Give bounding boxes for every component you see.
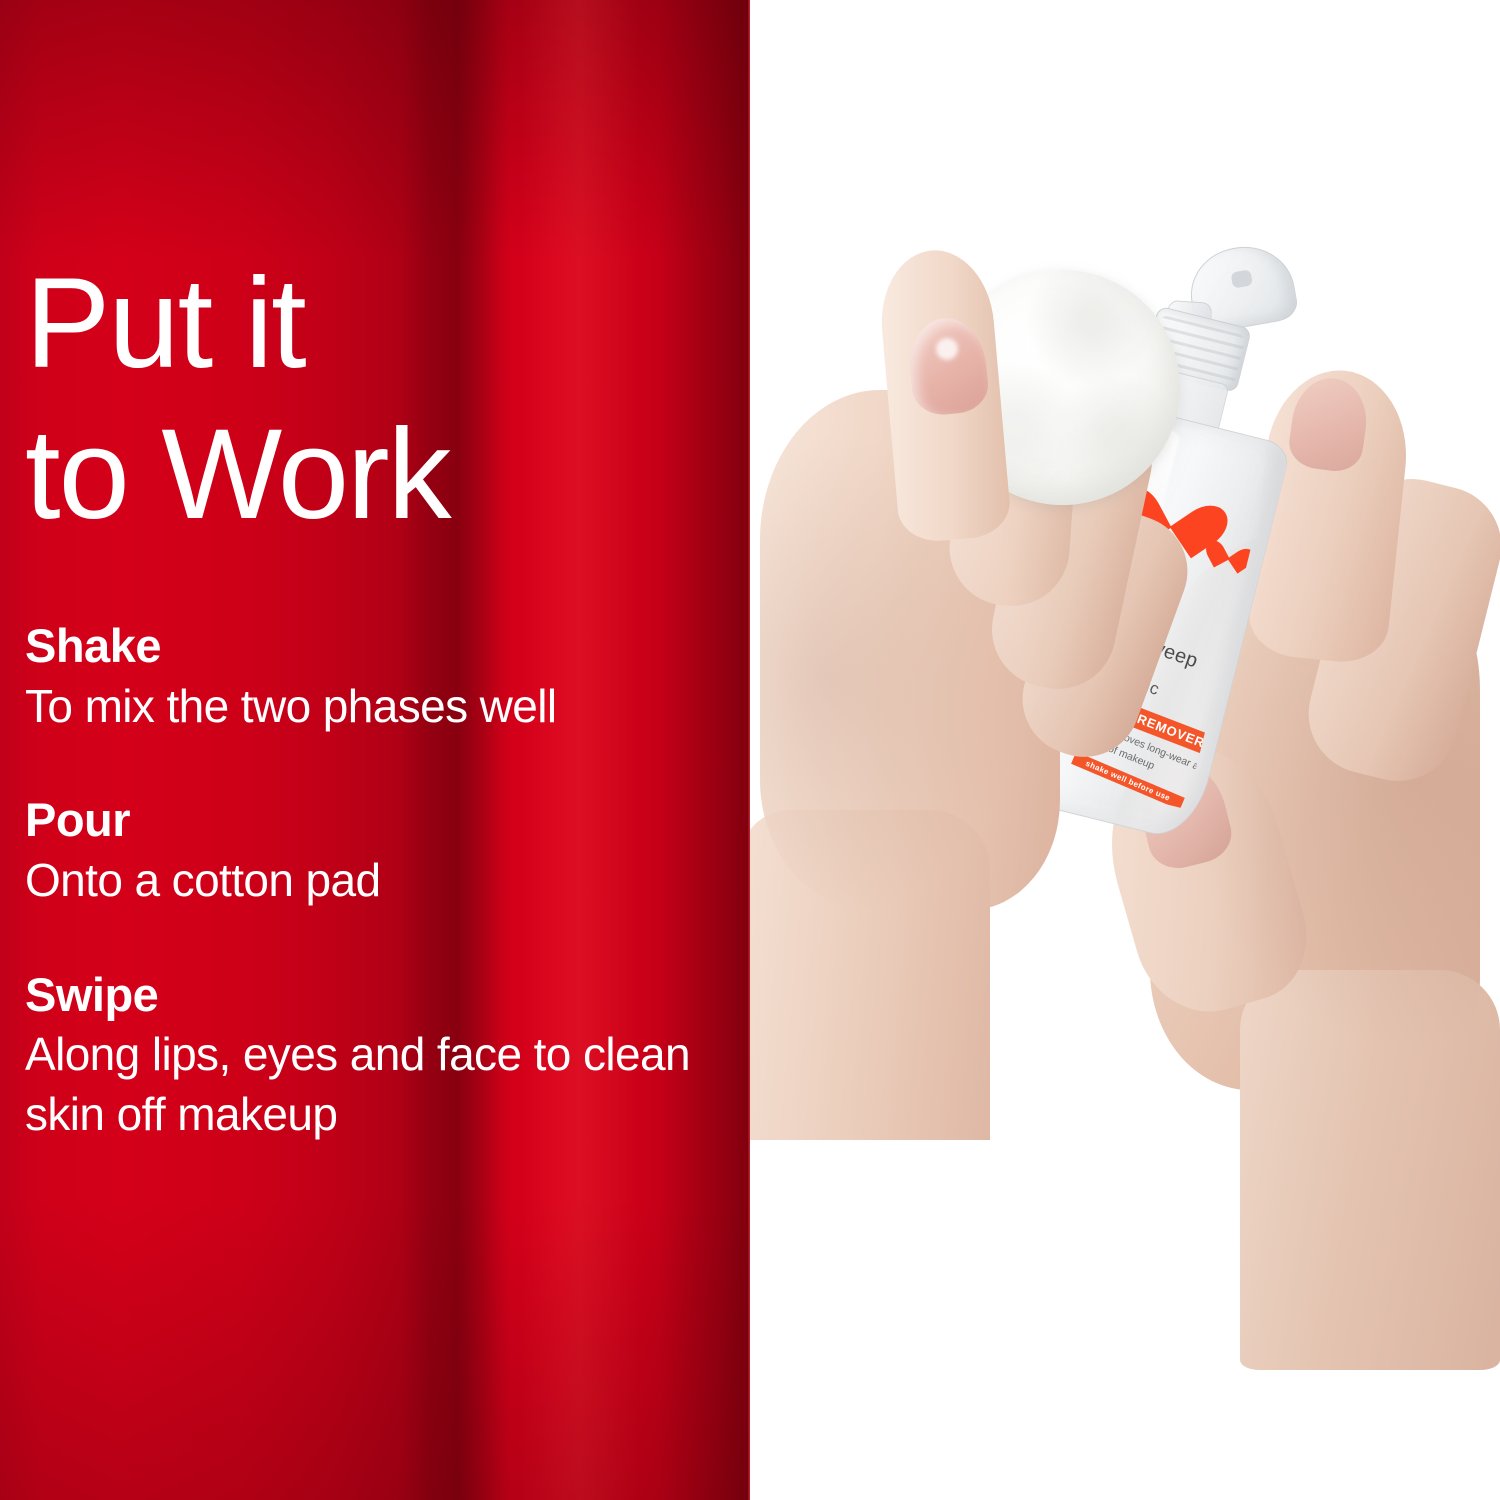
step-title-pour: Pour	[25, 794, 735, 847]
hand-holding-cotton-pad	[760, 210, 1190, 1110]
fabric-shade-bottom	[0, 1200, 750, 1500]
headline-line-2: to Work	[25, 399, 715, 550]
headline-line-1: Put it	[25, 248, 715, 399]
step-desc-pour: Onto a cotton pad	[25, 851, 735, 911]
fabric-shade-top	[0, 0, 750, 260]
product-photo: colr cupidTM clean sweep bi-phasic MAKEU…	[750, 0, 1500, 1500]
step-desc-swipe: Along lips, eyes and face to clean skin …	[25, 1025, 735, 1145]
list-item: Shake To mix the two phases well	[25, 620, 735, 736]
list-item: Swipe Along lips, eyes and face to clean…	[25, 969, 735, 1145]
heart-logo-small	[1211, 531, 1251, 568]
step-title-shake: Shake	[25, 620, 735, 673]
list-item: Pour Onto a cotton pad	[25, 794, 735, 910]
step-desc-shake: To mix the two phases well	[25, 677, 735, 737]
product-infographic: Put it to Work Shake To mix the two phas…	[0, 0, 1500, 1500]
instruction-step-list: Shake To mix the two phases well Pour On…	[25, 620, 735, 1145]
page-title: Put it to Work	[25, 248, 715, 550]
step-title-swipe: Swipe	[25, 969, 735, 1022]
